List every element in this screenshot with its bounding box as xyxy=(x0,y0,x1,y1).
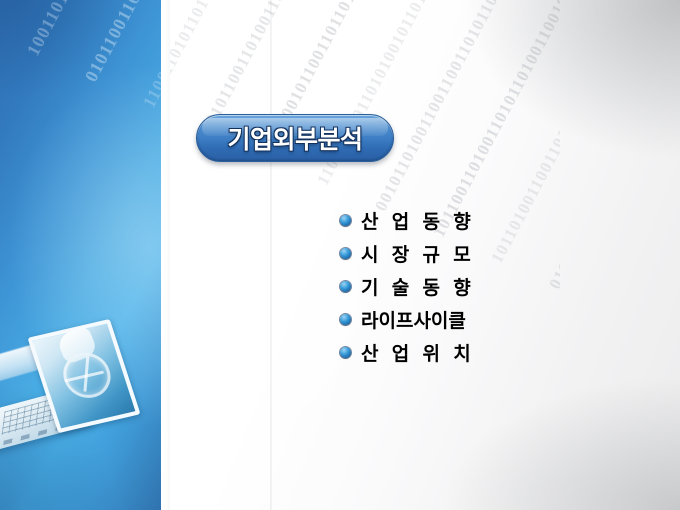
left-blue-panel: 1011010011001101000110110101100110011010… xyxy=(0,0,161,510)
list-item-label: 산 업 위 치 xyxy=(361,339,475,366)
vertical-divider-line xyxy=(270,0,272,510)
list-item-label: 산 업 동 향 xyxy=(361,207,475,234)
list-item[interactable]: 시 장 규 모 xyxy=(340,238,630,268)
bullet-sphere-icon xyxy=(340,347,351,358)
panel-right-edge xyxy=(161,0,170,510)
list-item-label: 라이프사이클 xyxy=(361,306,466,333)
slide-title-pill: 기업외부분석 xyxy=(196,114,394,162)
list-item-label: 시 장 규 모 xyxy=(361,240,475,267)
list-item[interactable]: 산 업 동 향 xyxy=(340,205,630,235)
agenda-bullet-list: 산 업 동 향시 장 규 모기 술 동 향라이프사이클산 업 위 치 xyxy=(340,205,630,370)
page-title: 기업외부분석 xyxy=(227,120,362,156)
list-item[interactable]: 산 업 위 치 xyxy=(340,337,630,367)
list-item[interactable]: 기 술 동 향 xyxy=(340,271,630,301)
bullet-sphere-icon xyxy=(340,248,351,259)
bullet-sphere-icon xyxy=(340,281,351,292)
list-item-label: 기 술 동 향 xyxy=(361,273,475,300)
list-item[interactable]: 라이프사이클 xyxy=(340,304,630,334)
bullet-sphere-icon xyxy=(340,314,351,325)
laptop-illustration xyxy=(0,322,161,472)
bullet-sphere-icon xyxy=(340,215,351,226)
presentation-slide: 1011010011001101000110110101100110011010… xyxy=(0,0,680,510)
